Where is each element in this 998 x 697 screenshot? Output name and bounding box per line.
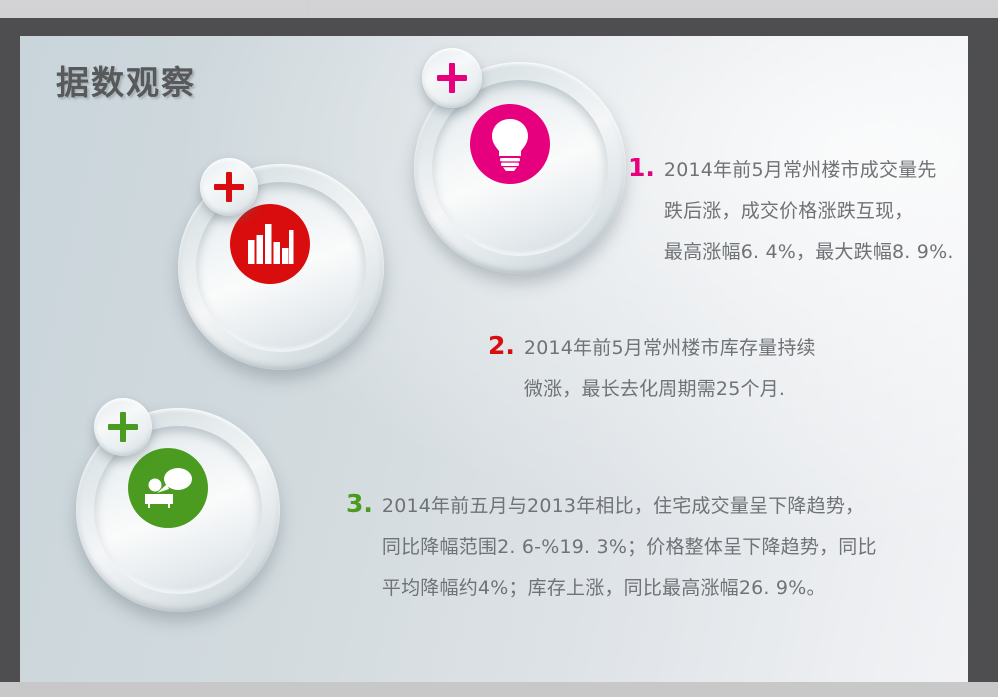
list-item: 1. 2014年前5月常州楼市成交量先 跌后涨，成交价格涨跌互现， 最高涨幅6.…	[628, 150, 954, 273]
plus-bar-vertical	[120, 412, 126, 442]
list-item: 2. 2014年前5月常州楼市库存量持续 微涨，最长去化周期需25个月.	[488, 328, 816, 410]
add-button-lightbulb[interactable]	[422, 48, 482, 108]
plus-bar-vertical	[449, 63, 455, 93]
person-speaking-icon	[128, 448, 208, 528]
add-button-bar-chart[interactable]	[200, 158, 258, 216]
bar-chart-icon	[230, 204, 310, 284]
disc-speaker[interactable]	[76, 408, 280, 612]
slide-stage: 据数观察	[20, 36, 968, 682]
add-button-speaker[interactable]	[94, 398, 152, 456]
window-top-strip	[0, 0, 998, 18]
lightbulb-icon	[470, 104, 550, 184]
list-item-number: 1.	[628, 150, 655, 186]
page-title: 据数观察	[56, 56, 196, 104]
plus-bar-vertical	[226, 172, 232, 202]
list-item-text: 2014年前5月常州楼市库存量持续 微涨，最长去化周期需25个月.	[524, 328, 816, 410]
list-item-text: 2014年前5月常州楼市成交量先 跌后涨，成交价格涨跌互现， 最高涨幅6. 4%…	[664, 150, 954, 273]
slide-root: 据数观察	[0, 0, 998, 697]
list-item-number: 3.	[346, 486, 373, 522]
disc-bar-chart[interactable]	[178, 164, 384, 370]
list-item-number: 2.	[488, 328, 515, 364]
list-item-text: 2014年前五月与2013年相比，住宅成交量呈下降趋势， 同比降幅范围2. 6-…	[382, 486, 877, 609]
disc-lightbulb[interactable]	[414, 62, 626, 274]
list-item: 3. 2014年前五月与2013年相比，住宅成交量呈下降趋势， 同比降幅范围2.…	[346, 486, 877, 609]
top-strip-seam	[308, 0, 309, 18]
